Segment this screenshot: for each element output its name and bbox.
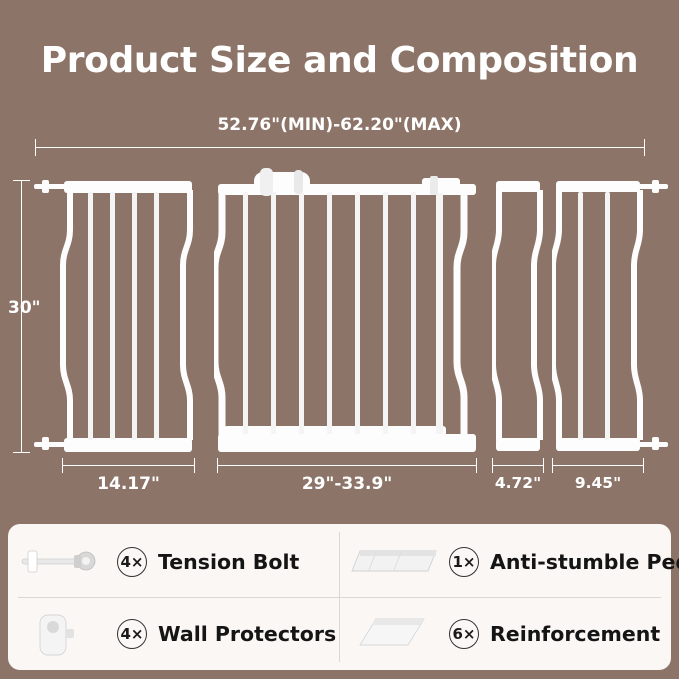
reinforcement-icon	[346, 599, 442, 669]
overall-width-dimension-line	[35, 147, 645, 148]
ext-medium-tick-right	[643, 458, 644, 473]
ext-medium-bar-2	[605, 192, 610, 440]
reinforcement-quantity-number: 6×	[449, 619, 479, 649]
ext-left-frame-posts	[60, 190, 200, 440]
ext-medium-tension-bolt-bottom-nut	[652, 437, 659, 450]
parts-list-panel: 4× Tension Bolt 1× Anti-stumble Pedal	[8, 524, 671, 670]
gate-bar-1	[243, 192, 248, 434]
anti-stumble-pedal-quantity-number: 1×	[449, 547, 479, 577]
ext-left-dimension-line	[62, 465, 195, 466]
page-title: Product Size and Composition	[0, 40, 679, 81]
ext-small-frame-posts	[492, 190, 548, 440]
part-item-wall-protectors: 4× Wall Protectors	[14, 598, 336, 670]
ext-medium-bar-1	[578, 192, 583, 440]
wall-protectors-quantity: 4×	[110, 619, 154, 649]
gate-bar-6	[383, 192, 388, 434]
gate-bar-2	[271, 192, 276, 434]
anti-stumble-pedal-icon	[346, 527, 442, 597]
gate-latch-icon	[420, 176, 462, 198]
ext-medium-frame-posts	[552, 190, 648, 440]
ext-left-tension-bolt-bottom-nut	[42, 437, 49, 450]
ext-small-tick-right	[543, 458, 544, 473]
gate-door-edge-post	[436, 192, 443, 434]
reinforcement-label: Reinforcement	[490, 622, 660, 646]
gate-width-dimension-line	[217, 465, 477, 466]
height-label: 30"	[8, 298, 41, 318]
ext-left-tick-right	[194, 458, 195, 473]
tension-bolt-icon	[14, 527, 110, 597]
gate-bar-7	[411, 192, 416, 434]
ext-left-bar-1	[88, 192, 93, 440]
gate-bar-5	[355, 192, 360, 434]
anti-stumble-pedal-quantity: 1×	[442, 547, 486, 577]
ext-left-tick-left	[62, 458, 63, 473]
gate-bar-3	[299, 192, 304, 434]
tension-bolt-quantity-number: 4×	[117, 547, 147, 577]
ext-left-bar-4	[154, 192, 159, 440]
height-tick-bottom	[13, 452, 30, 453]
ext-medium-tick-left	[552, 458, 553, 473]
ext-medium-label: 9.45"	[560, 474, 636, 492]
ext-medium-tension-bolt-top-nut	[652, 180, 659, 193]
part-item-anti-stumble-pedal: 1× Anti-stumble Pedal	[346, 526, 668, 598]
wall-protectors-quantity-number: 4×	[117, 619, 147, 649]
overall-width-tick-left	[35, 139, 36, 156]
gate-width-tick-right	[476, 458, 477, 473]
height-tick-top	[13, 180, 30, 181]
ext-left-tension-bolt-top-nut	[42, 180, 49, 193]
part-item-tension-bolt: 4× Tension Bolt	[14, 526, 336, 598]
wall-protectors-label: Wall Protectors	[158, 622, 336, 646]
ext-left-bar-3	[132, 192, 137, 440]
gate-width-label: 29"-33.9"	[217, 474, 477, 494]
ext-small-tick-left	[492, 458, 493, 473]
wall-protector-icon	[14, 599, 110, 669]
overall-width-label: 52.76"(MIN)-62.20"(MAX)	[0, 115, 679, 135]
gate-handle-icon	[250, 166, 320, 200]
ext-medium-dimension-line	[552, 465, 644, 466]
ext-small-dimension-line	[492, 465, 544, 466]
tension-bolt-label: Tension Bolt	[158, 550, 299, 574]
reinforcement-quantity: 6×	[442, 619, 486, 649]
gate-frame-posts	[214, 192, 484, 437]
gate-bar-4	[327, 192, 332, 434]
ext-left-bottom-rail	[64, 438, 192, 452]
tension-bolt-quantity: 4×	[110, 547, 154, 577]
ext-left-bar-2	[110, 192, 115, 440]
ext-left-tension-bolt-bottom	[34, 442, 68, 447]
anti-stumble-pedal-label: Anti-stumble Pedal	[490, 550, 679, 574]
gate-width-tick-left	[217, 458, 218, 473]
overall-width-tick-right	[644, 139, 645, 156]
ext-left-label: 14.17"	[62, 474, 195, 494]
ext-small-label: 4.72"	[480, 474, 556, 492]
gate-diagram: 52.76"(MIN)-62.20"(MAX) 30" 14	[0, 108, 679, 508]
product-size-composition-infographic: Product Size and Composition 52.76"(MIN)…	[0, 0, 679, 679]
part-item-reinforcement: 6× Reinforcement	[346, 598, 668, 670]
ext-left-tension-bolt-top	[34, 184, 68, 189]
